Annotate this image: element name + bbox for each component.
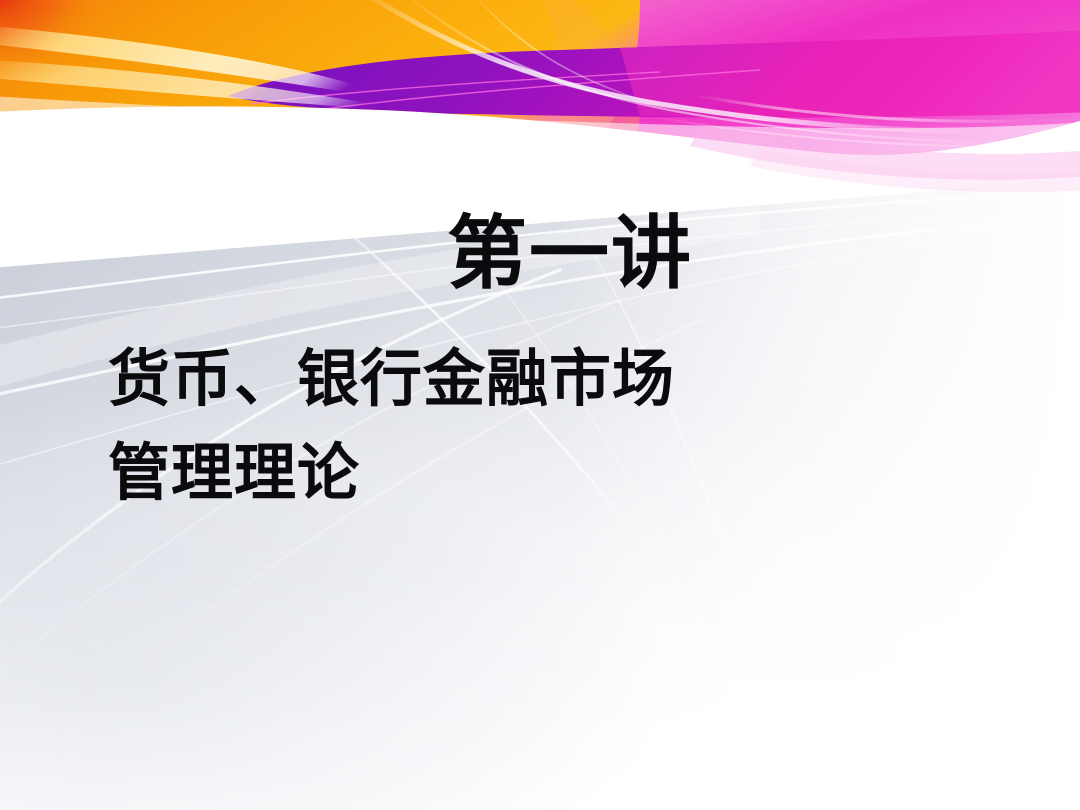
subtitle: 货币、银行金融市场 管理理论 xyxy=(108,332,968,520)
subtitle-line-1: 货币、银行金融市场 xyxy=(108,332,968,426)
title-slide: 第一讲 货币、银行金融市场 管理理论 xyxy=(0,0,1080,810)
subtitle-line-2: 管理理论 xyxy=(108,426,968,520)
page-title: 第一讲 xyxy=(0,212,1080,296)
title-text-block: 第一讲 货币、银行金融市场 管理理论 xyxy=(0,0,1080,810)
